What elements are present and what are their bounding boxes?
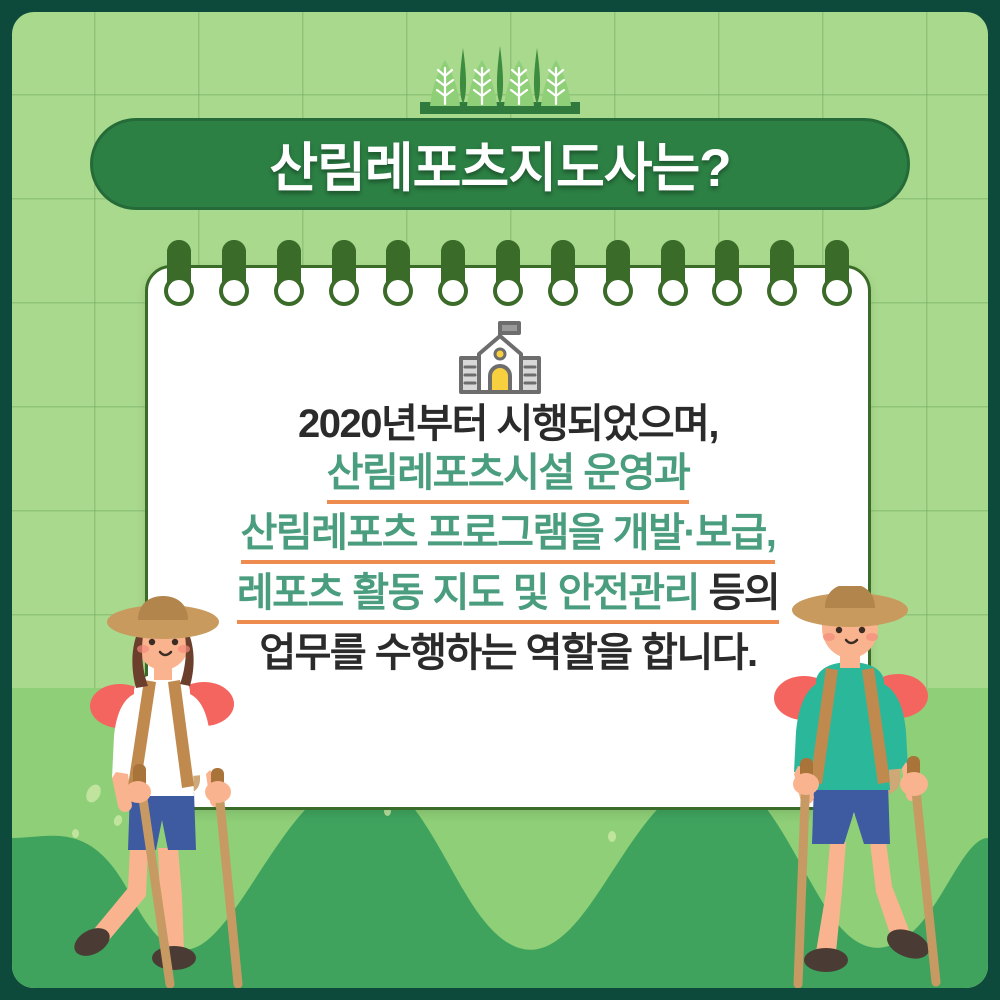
spiral-hole: [658, 276, 688, 306]
infographic-card: 산림레포츠지도사는? 2020년부터 시행되었으며, 산림레포츠시설 운영과 산…: [0, 0, 1000, 1000]
spiral-hole: [383, 276, 413, 306]
school-building-icon: [455, 318, 545, 396]
speck: [608, 831, 616, 842]
female-hiker-illustration: [42, 596, 272, 988]
spiral-hole: [822, 276, 852, 306]
body-line-4-highlight: 레포츠 활동 지도 및 안전관리: [237, 571, 709, 615]
spiral-hole: [219, 276, 249, 306]
spiral-hole: [329, 276, 359, 306]
spiral-hole: [712, 276, 742, 306]
spiral-hole: [548, 276, 578, 306]
spiral-hole: [767, 276, 797, 306]
spiral-hole: [164, 276, 194, 306]
spiral-hole: [603, 276, 633, 306]
male-hiker-illustration: [748, 586, 976, 988]
title-banner: 산림레포츠지도사는?: [90, 118, 910, 210]
page-title: 산림레포츠지도사는?: [269, 126, 730, 202]
spiral-binding: [145, 240, 871, 310]
pine-tree-cluster: [420, 34, 580, 114]
body-line-2: 산림레포츠시설 운영과: [327, 453, 690, 504]
body-line-1: 2020년부터 시행되었으며,: [145, 404, 871, 444]
spiral-hole: [438, 276, 468, 306]
spiral-hole: [493, 276, 523, 306]
body-line-3: 산림레포츠 프로그램을 개발·보급,: [241, 513, 776, 564]
spiral-hole: [274, 276, 304, 306]
